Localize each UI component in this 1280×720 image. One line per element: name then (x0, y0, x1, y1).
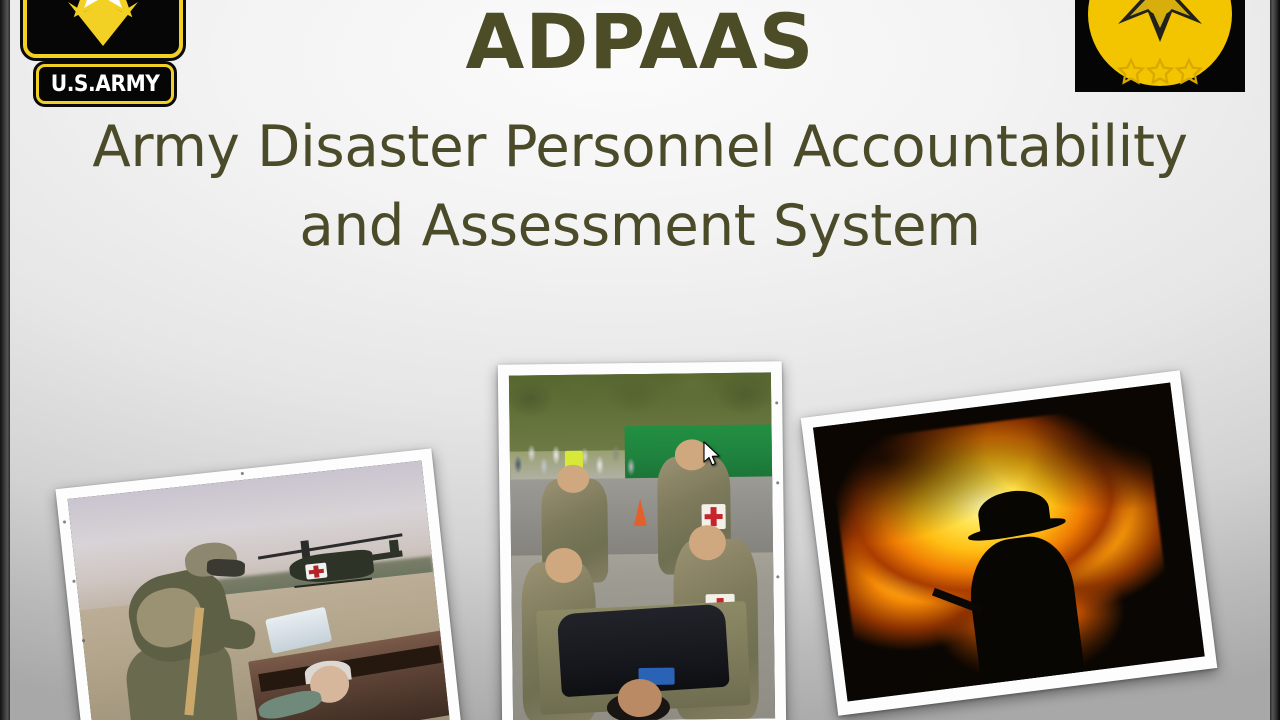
slide-canvas: U.S.ARMY (10, 0, 1270, 720)
presentation-slide: U.S.ARMY (0, 0, 1280, 720)
photo-firefighter-flames (801, 370, 1218, 716)
photo-stretcher-evacuation (498, 361, 786, 720)
slide-subtitle-line-1: Army Disaster Personnel Accountability (19, 108, 1260, 187)
slide-subtitle: Army Disaster Personnel Accountability a… (19, 108, 1260, 266)
army-wordmark-text: U.S.ARMY (51, 72, 160, 97)
imcom-emblem (1075, 0, 1245, 92)
army-wordmark-badge: U.S.ARMY (36, 64, 174, 104)
imcom-emblem-icon (1075, 0, 1245, 92)
photo-firefighter-flames-image (813, 383, 1205, 702)
right-edge-bar (1270, 0, 1280, 720)
photo-rooftop-rescue (55, 448, 462, 720)
medevac-helicopter (261, 517, 403, 600)
photo-rooftop-rescue-image (68, 461, 451, 720)
army-star-icon (48, 0, 158, 54)
rescue-soldier (102, 536, 294, 720)
us-army-logo: U.S.ARMY (23, 0, 183, 104)
slide-subtitle-line-2: and Assessment System (19, 187, 1260, 266)
photo-stretcher-evacuation-image (509, 372, 775, 720)
left-edge-bar (0, 0, 10, 720)
red-cross-marking (305, 563, 327, 580)
army-star-badge (23, 0, 183, 58)
